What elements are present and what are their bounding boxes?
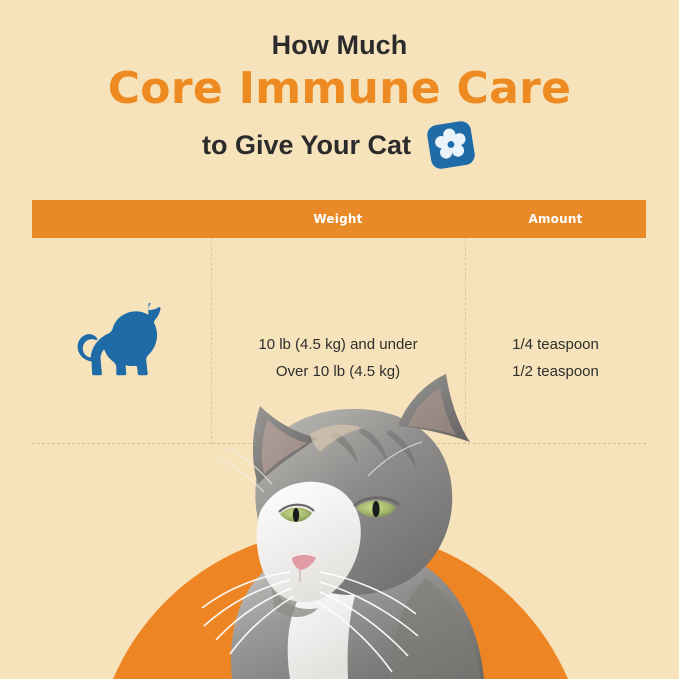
hero-section	[0, 372, 679, 679]
title-line-to-give-your-cat: to Give Your Cat	[202, 128, 411, 162]
title-line-product-name: Core Immune Care	[0, 62, 679, 116]
title-line-subtitle-row: to Give Your Cat	[0, 117, 679, 173]
flower-badge-icon	[425, 119, 477, 171]
cat-photo	[140, 372, 560, 679]
page-title: How Much Core Immune Care to Give Your C…	[0, 26, 679, 173]
table-row: 10 lb (4.5 kg) and under	[211, 331, 465, 358]
title-line-how-much: How Much	[0, 26, 679, 64]
table-header-amount: Amount	[465, 212, 646, 226]
infographic-canvas: How Much Core Immune Care to Give Your C…	[0, 0, 679, 679]
table-header-row: Weight Amount	[32, 200, 646, 238]
table-row: 1/4 teaspoon	[465, 331, 646, 358]
table-header-weight: Weight	[211, 212, 465, 226]
